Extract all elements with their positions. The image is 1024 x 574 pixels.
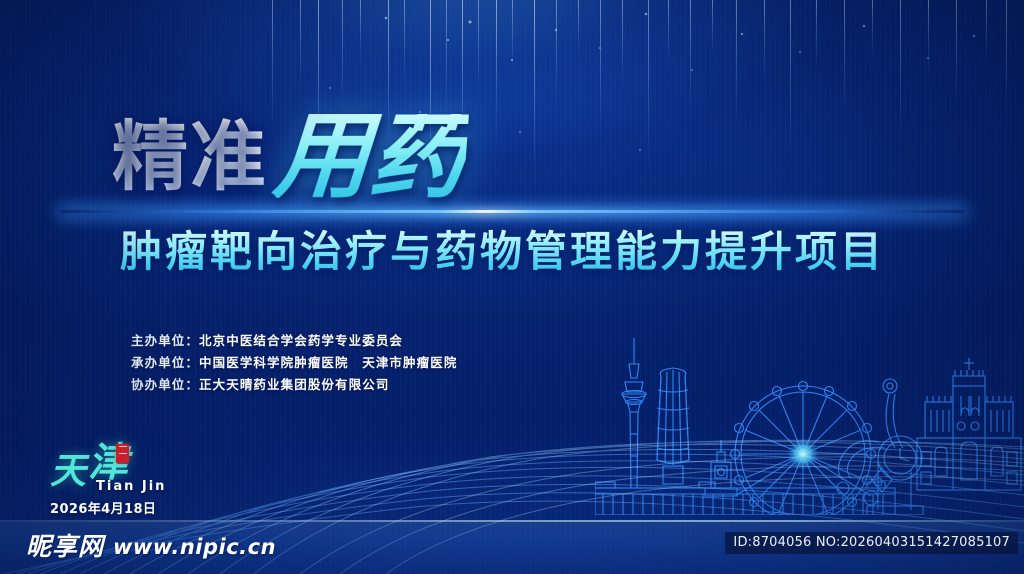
tianjin-skyline-illustration [595, 330, 1024, 515]
city-name-cn-first: 天 [50, 450, 88, 492]
city-block: 天津 Tian Jin 2026年4月18日 [50, 452, 250, 522]
poster-subtitle: 肿瘤靶向治疗与药物管理能力提升项目 [120, 227, 885, 277]
cathedral-shape [917, 358, 1021, 490]
organizer-label-coorganizer: 协办单位： [131, 377, 199, 392]
organizer-label-host: 主办单位： [131, 333, 199, 348]
poster-title: 精准 用药 [112, 114, 466, 198]
image-id-strip: ID:8704056 NO:20260403151427085107 [725, 532, 1018, 554]
city-name-en: Tian Jin [96, 479, 166, 494]
colonnade-ground-shape [595, 482, 895, 515]
event-date: 2026年4月18日 [50, 498, 156, 517]
organizer-row-undertaker: 承办单位：中国医学科学院肿瘤医院 天津市肿瘤医院 [131, 352, 457, 374]
title-glow-line [60, 210, 964, 213]
clock-tower-shape [705, 440, 737, 496]
organizer-value-host: 北京中医结合学会药学专业委员会 [199, 333, 403, 348]
red-seal-stamp [116, 444, 129, 463]
organizer-value-coorganizer: 正大天晴药业集团股份有限公司 [199, 377, 389, 392]
century-clock-sculpture-shape [837, 379, 923, 515]
ferris-wheel-shape [731, 382, 879, 516]
tv-tower-shape [622, 338, 646, 488]
organizer-list: 主办单位：北京中医结合学会药学专业委员会 承办单位：中国医学科学院肿瘤医院 天津… [131, 330, 457, 396]
site-watermark: 昵享网 www.nipic.cn [26, 534, 276, 560]
jin-tower-shape [657, 368, 689, 484]
organizer-row-coorganizer: 协办单位：正大天晴药业集团股份有限公司 [131, 374, 457, 396]
organizer-value-undertaker: 中国医学科学院肿瘤医院 天津市肿瘤医院 [199, 355, 457, 370]
title-accent-text: 用药 [271, 114, 469, 198]
title-main-text: 精准 [112, 116, 268, 198]
watermark-brand-cn: 昵享网 [26, 534, 104, 560]
watermark-url: www.nipic.cn [113, 535, 276, 559]
ferris-wheel-hub-glow [787, 438, 819, 470]
poster-canvas: 精准 用药 肿瘤靶向治疗与药物管理能力提升项目 主办单位：北京中医结合学会药学专… [0, 0, 1024, 574]
organizer-row-host: 主办单位：北京中医结合学会药学专业委员会 [131, 330, 457, 352]
organizer-label-undertaker: 承办单位： [131, 355, 199, 370]
